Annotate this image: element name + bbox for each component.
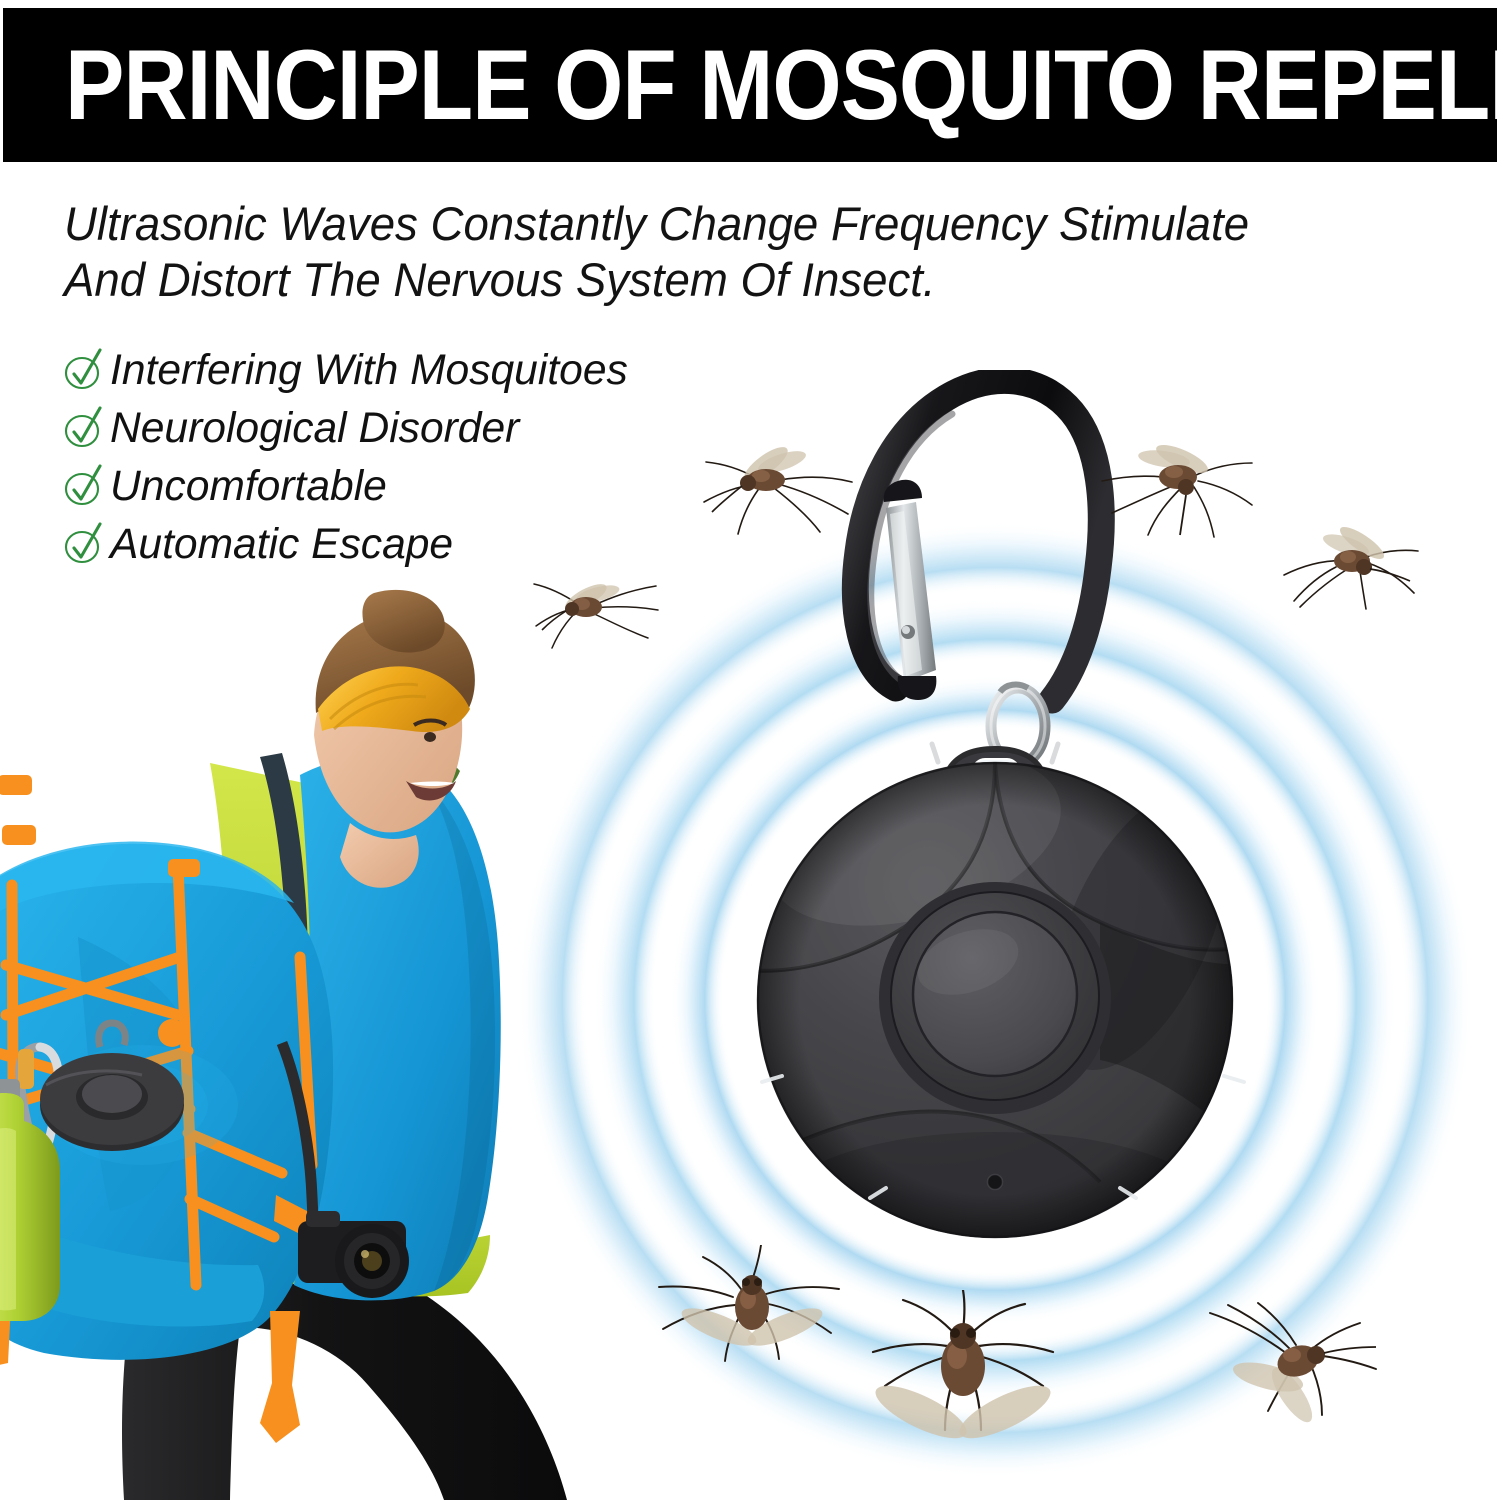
device-body: [736, 724, 1265, 1240]
benefit-label-3: Uncomfortable: [110, 463, 387, 510]
mosquito-top-left: [530, 560, 660, 655]
circle-check-icon: [62, 463, 104, 507]
mosquito-bottom-mid: [845, 1290, 1080, 1480]
benefit-item-3: Uncomfortable: [62, 458, 762, 515]
benefit-label-4: Automatic Escape: [110, 521, 453, 568]
header-banner: PRINCIPLE OF MOSQUITO REPELLENT: [3, 8, 1497, 162]
benefits-list: Interfering With Mosquitoes Neurological…: [62, 342, 762, 574]
mosquito-top-right-2: [1270, 505, 1420, 610]
subtitle-text: Ultrasonic Waves Constantly Change Frequ…: [64, 196, 1422, 308]
page-title: PRINCIPLE OF MOSQUITO REPELLENT: [65, 35, 1500, 134]
benefit-item-4: Automatic Escape: [62, 516, 762, 573]
benefit-item-2: Neurological Disorder: [62, 400, 762, 457]
benefit-item-1: Interfering With Mosquitoes: [62, 342, 762, 399]
mosquito-bottom-right: [1200, 1295, 1395, 1435]
benefit-label-1: Interfering With Mosquitoes: [110, 347, 628, 394]
infographic-canvas: PRINCIPLE OF MOSQUITO REPELLENT Ultrason…: [0, 0, 1500, 1500]
mosquito-top-right-1: [1090, 425, 1255, 540]
mosquito-bottom-left: [645, 1245, 845, 1380]
subtitle-line-2: And Distort The Nervous System Of Insect…: [64, 252, 1422, 308]
hiker-with-backpack-photo: [0, 585, 622, 1500]
subtitle-line-1: Ultrasonic Waves Constantly Change Frequ…: [64, 197, 1249, 250]
benefit-label-2: Neurological Disorder: [110, 405, 519, 452]
circle-check-icon: [62, 347, 104, 391]
carabiner-clip: [855, 380, 1101, 700]
circle-check-icon: [62, 405, 104, 449]
circle-check-icon: [62, 521, 104, 565]
